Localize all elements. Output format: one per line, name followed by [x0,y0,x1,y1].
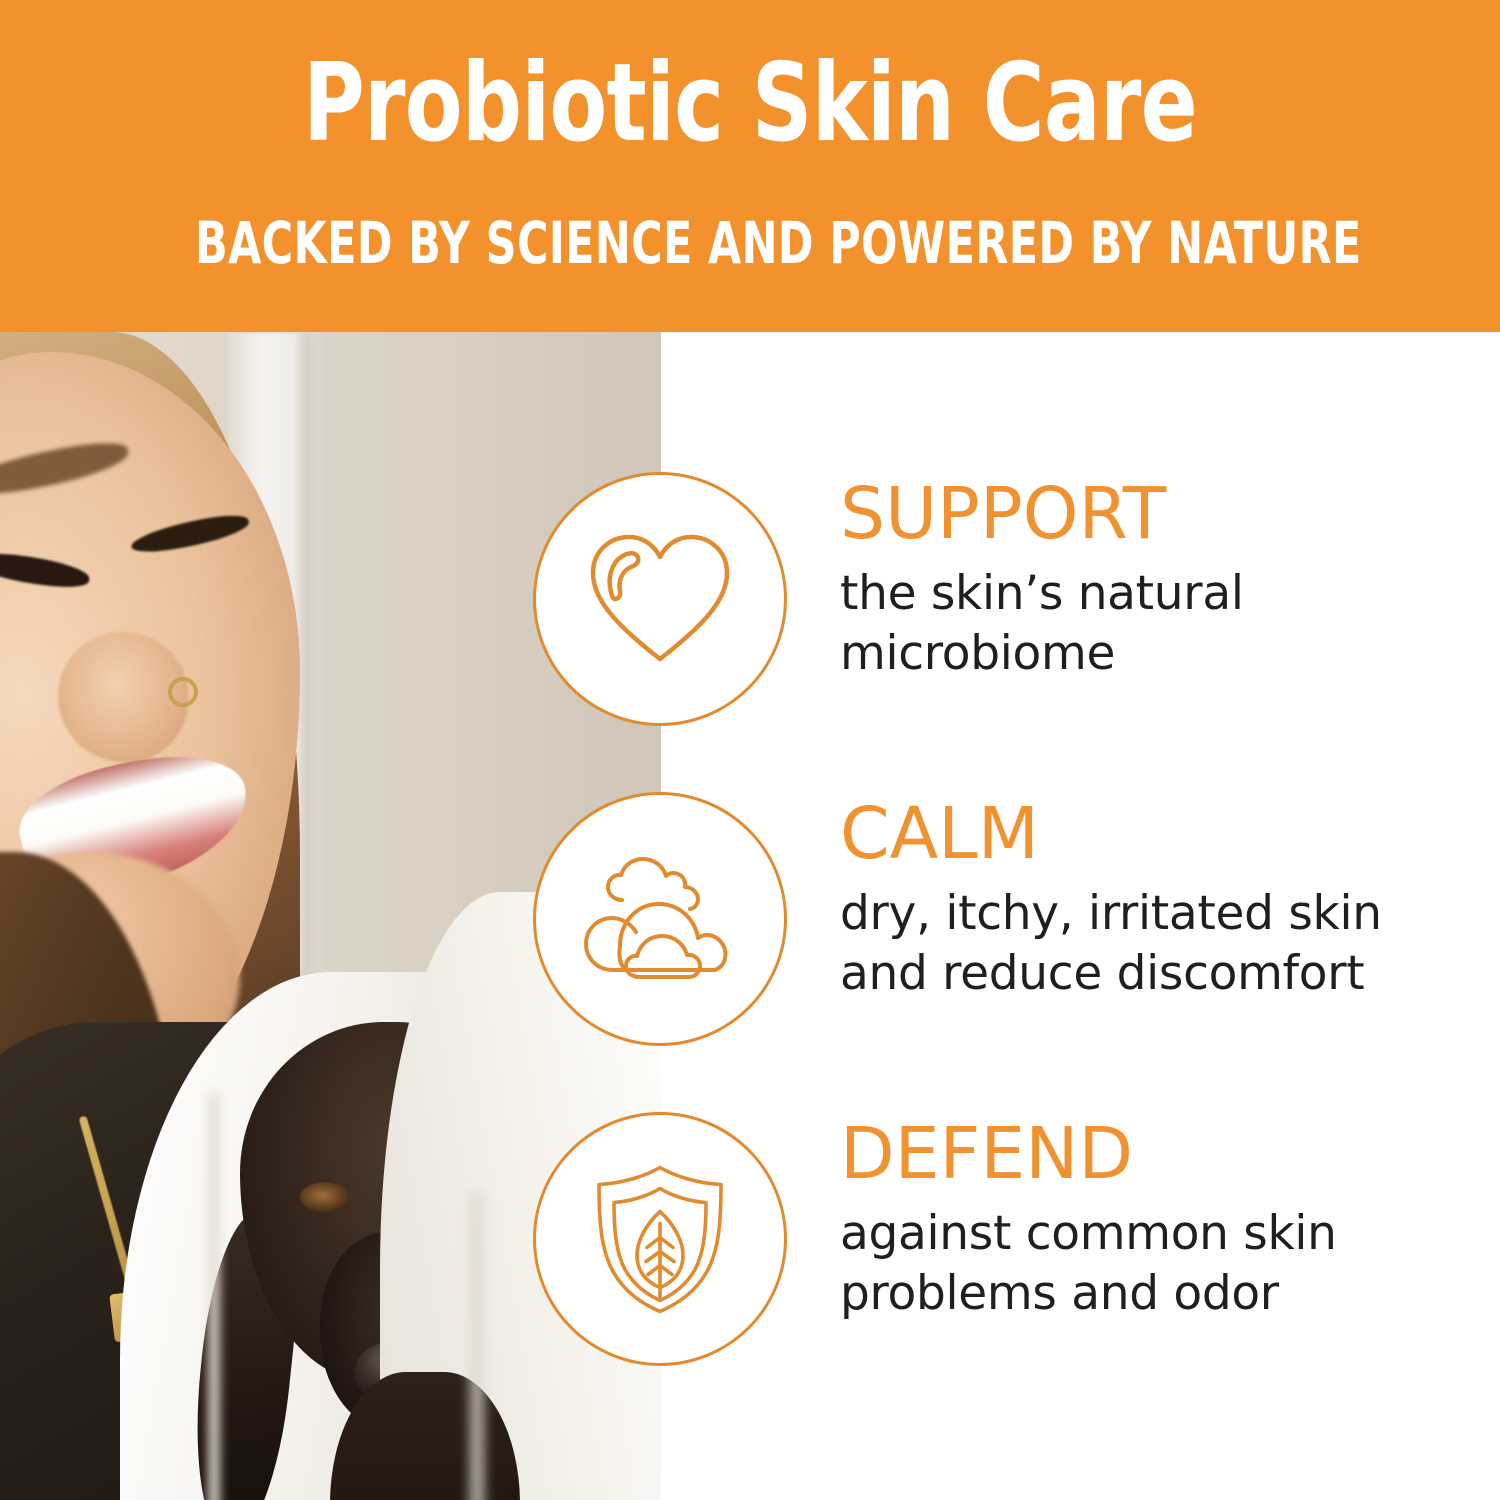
shield-leaf-icon [533,1112,787,1366]
page-title: Probiotic Skin Care [165,48,1335,160]
photo-dog-eye-left [300,1182,350,1212]
feature-body-line: against common skin [840,1204,1490,1264]
photo-nose-ring [168,677,198,707]
heart-icon [533,472,787,726]
feature-text-support: SUPPORT the skin’s natural microbiome [840,476,1490,684]
feature-heading: DEFEND [840,1116,1490,1192]
feature-body-line: dry, itchy, irritated skin [840,884,1490,944]
feature-body-line: problems and odor [840,1264,1490,1324]
photo-window-frame [300,332,314,992]
feature-row-defend: DEFEND against common skin problems and … [530,1112,1490,1374]
feature-text-defend: DEFEND against common skin problems and … [840,1116,1490,1324]
photo-towel-fold-right [470,1192,484,1500]
photo-towel-fold-left [208,1092,220,1500]
header-banner: Probiotic Skin Care BACKED BY SCIENCE AN… [0,0,1500,332]
infographic-page: Probiotic Skin Care BACKED BY SCIENCE AN… [0,0,1500,1500]
feature-text-calm: CALM dry, itchy, irritated skin and redu… [840,796,1490,1004]
feature-body-line: the skin’s natural [840,564,1490,624]
feature-row-calm: CALM dry, itchy, irritated skin and redu… [530,792,1490,1054]
feature-heading: CALM [840,796,1490,872]
feature-heading: SUPPORT [840,476,1490,552]
page-subtitle: BACKED BY SCIENCE AND POWERED BY NATURE [195,212,1305,274]
feature-body: against common skin problems and odor [840,1204,1490,1324]
feature-body-line: and reduce discomfort [840,944,1490,1004]
clouds-icon [533,792,787,1046]
feature-body-line: microbiome [840,624,1490,684]
feature-row-support: SUPPORT the skin’s natural microbiome [530,472,1490,734]
feature-body: the skin’s natural microbiome [840,564,1490,684]
feature-body: dry, itchy, irritated skin and reduce di… [840,884,1490,1004]
